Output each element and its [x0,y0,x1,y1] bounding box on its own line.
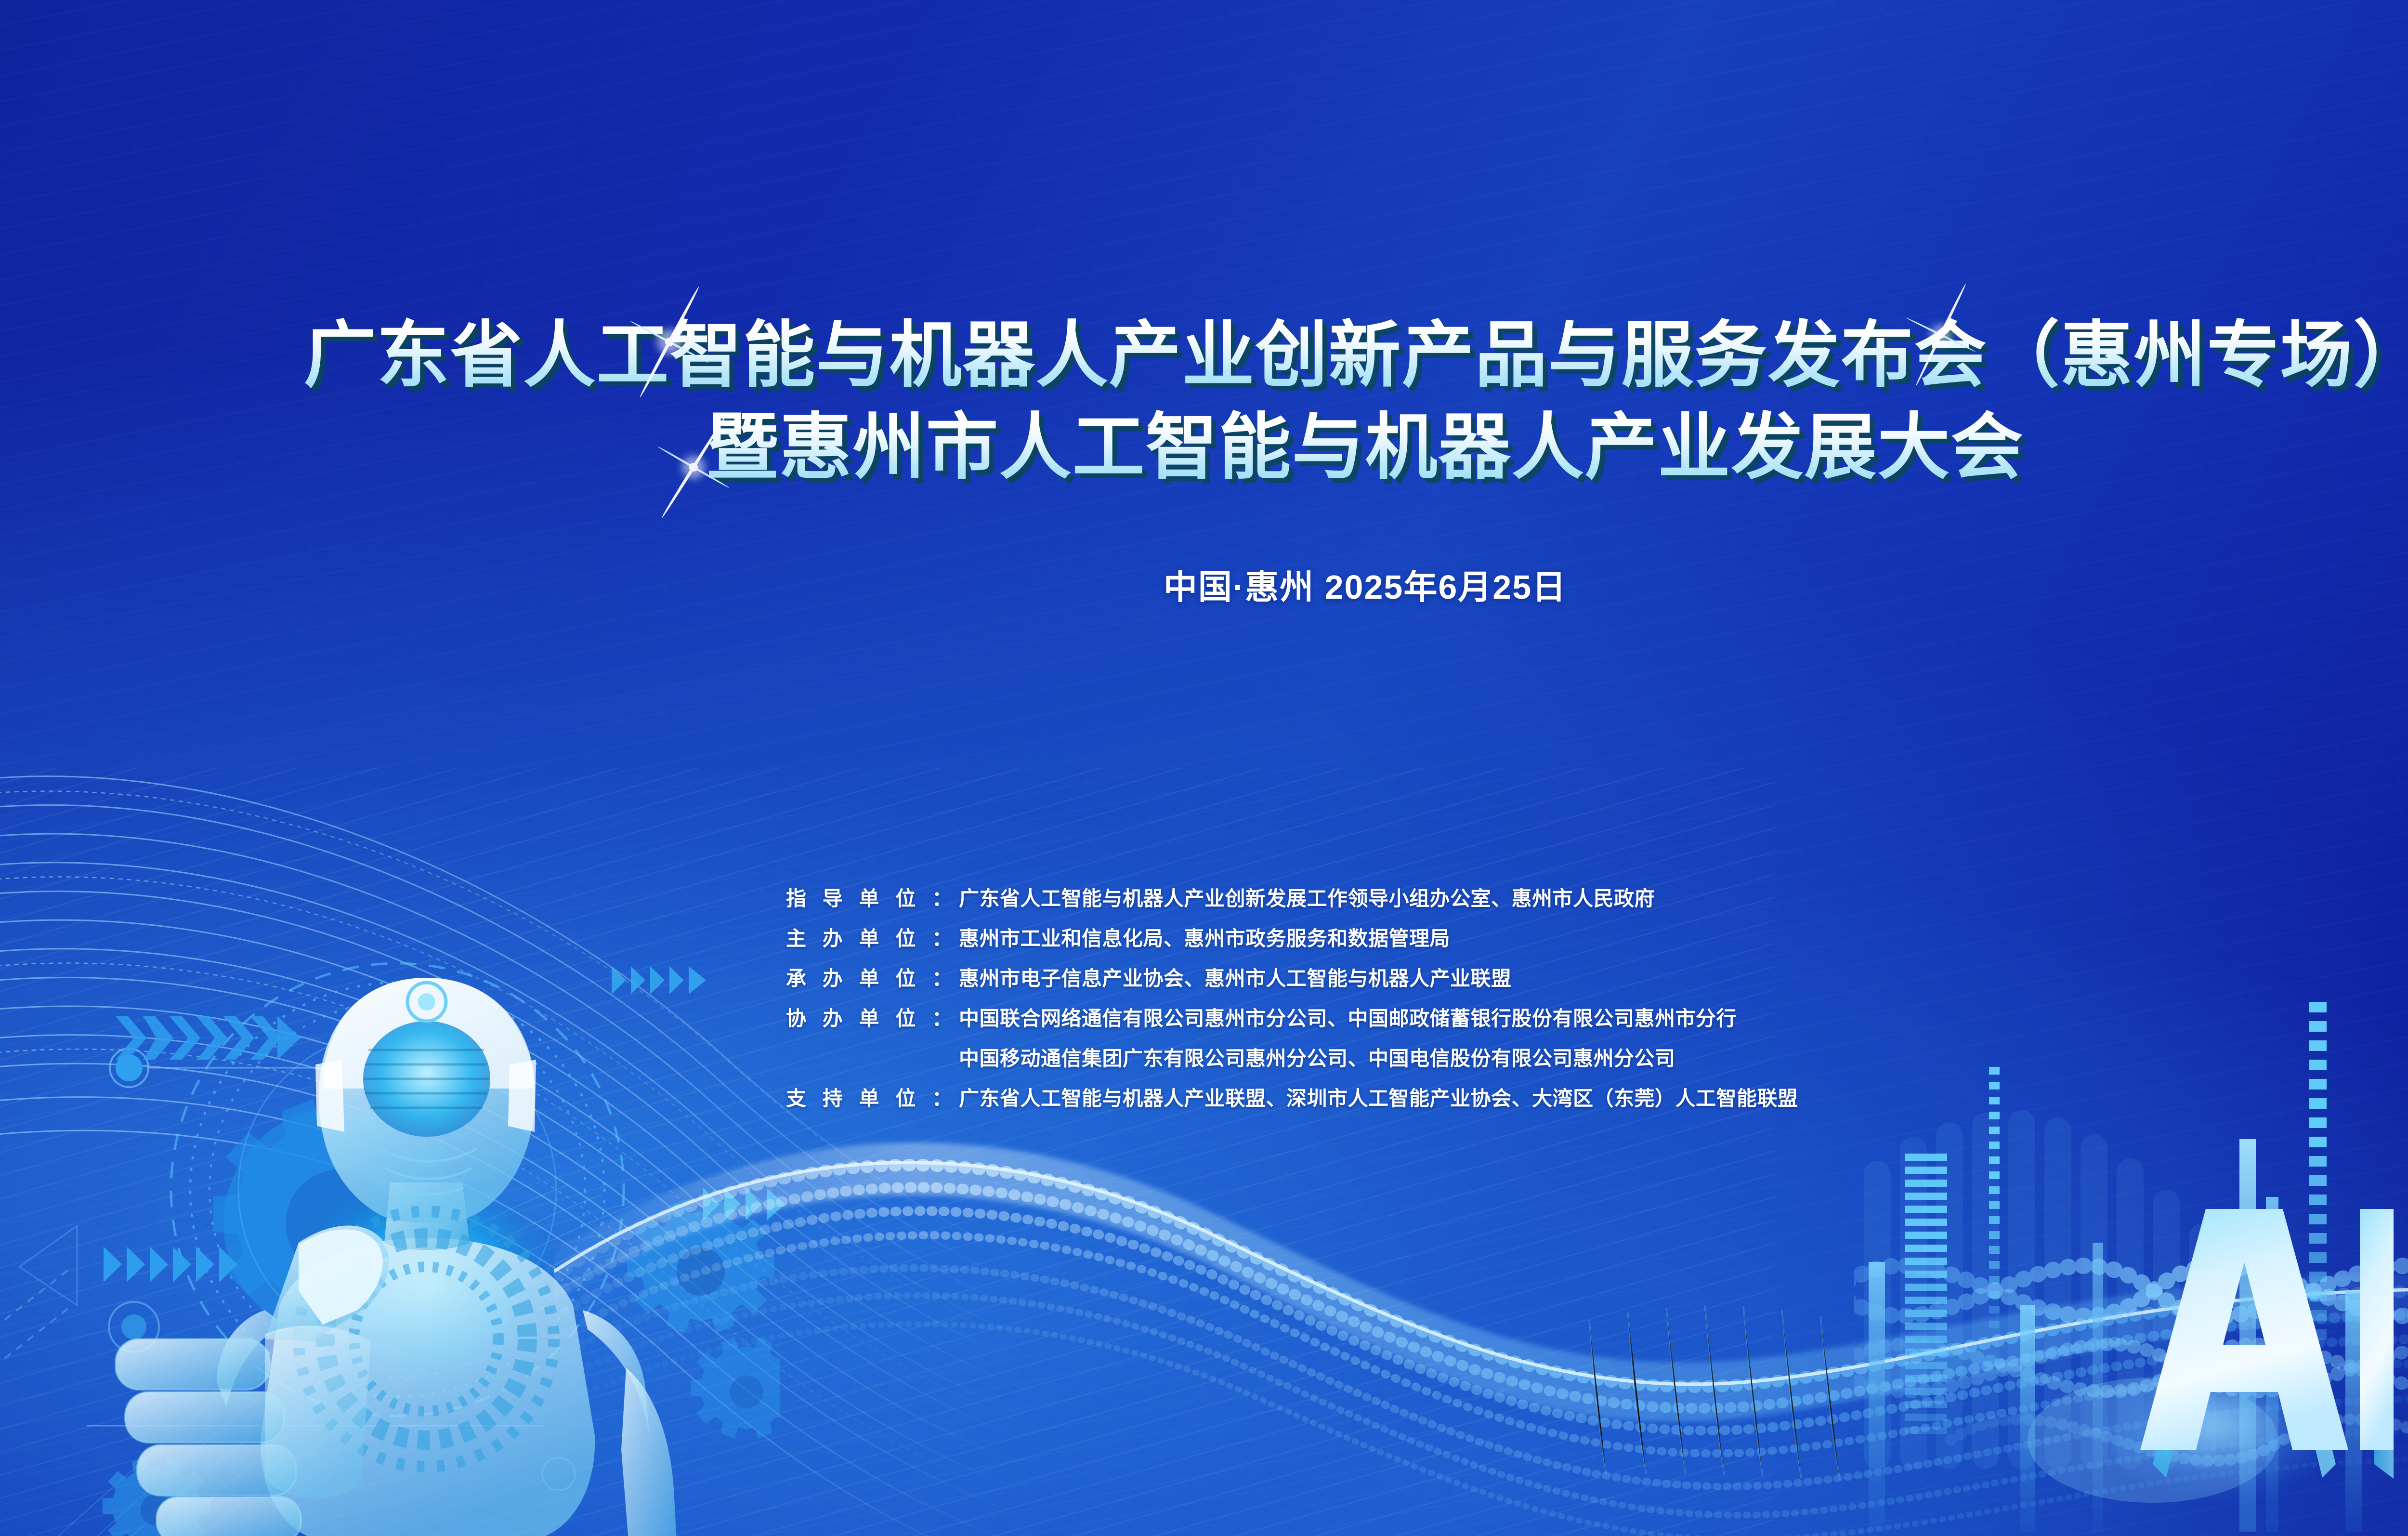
organizer-label: 协办单位： [786,1002,952,1032]
diagonal-streaks-overlay [0,0,2408,1536]
organizer-label: 承办单位： [786,962,952,992]
organizer-value: 惠州市工业和信息化局、惠州市政务服务和数据管理局 [952,922,1450,952]
organizer-label: 主办单位： [786,922,952,952]
humanoid-robot-figure [72,906,771,1536]
organizer-row: 承办单位： 惠州市电子信息产业协会、惠州市人工智能与机器人产业联盟 [786,962,2134,992]
subtitle-location-date: 中国·惠州 2025年6月25日 [0,560,2408,609]
organizer-row-continuation: 协办单位： 中国移动通信集团广东有限公司惠州分公司、中国电信股份有限公司惠州分公… [786,1042,2134,1072]
organizer-label: 指导单位： [786,882,952,912]
organizer-value: 广东省人工智能与机器人产业联盟、深圳市人工智能产业协会、大湾区（东莞）人工智能联… [952,1082,1798,1112]
title-line-1: 广东省人工智能与机器人产业创新产品与服务发布会（惠州专场） [0,308,2408,402]
chevron-arrow-icons-right [612,963,727,997]
organizer-value: 中国移动通信集团广东有限公司惠州分公司、中国电信股份有限公司惠州分公司 [952,1042,1675,1072]
flowing-curve-lines [0,722,1637,1536]
organizer-row: 主办单位： 惠州市工业和信息化局、惠州市政务服务和数据管理局 [786,922,2134,952]
ai-logo-glow [2090,1353,2341,1498]
organizer-value: 惠州市电子信息产业协会、惠州市人工智能与机器人产业联盟 [952,962,1512,992]
organizer-value: 广东省人工智能与机器人产业创新发展工作领导小组办公室、惠州市人民政府 [952,882,1655,912]
headline-block: 广东省人工智能与机器人产业创新产品与服务发布会（惠州专场） 暨惠州市人工智能与机… [0,308,2408,494]
organizer-row: 协办单位： 中国联合网络通信有限公司惠州市分公司、中国邮政储蓄银行股份有限公司惠… [786,1002,2134,1032]
sound-wave-ribbon [554,1050,2408,1536]
chevron-arrow-icons-small [104,1243,253,1286]
chevron-arrow-icons [116,1011,327,1064]
poster-canvas: AI 广东省人工智能与机器人产业创新产品与服务发布会（惠州专场） 暨惠州市人工智… [0,0,2408,1536]
ai-logo: AI [2133,1195,2403,1493]
organizer-row: 指导单位： 广东省人工智能与机器人产业创新发展工作领导小组办公室、惠州市人民政府 [786,882,2134,912]
hud-ring-icons [58,906,780,1536]
title-line-2: 暨惠州市人工智能与机器人产业发展大会 [0,400,2408,494]
chevron-arrow-icons-mid [703,1185,824,1223]
organizer-label: 支持单位： [786,1082,952,1112]
organizer-row: 支持单位： 广东省人工智能与机器人产业联盟、深圳市人工智能产业协会、大湾区（东莞… [786,1082,2134,1112]
organizer-value: 中国联合网络通信有限公司惠州市分公司、中国邮政储蓄银行股份有限公司惠州市分行 [952,1002,1737,1032]
organizers-block: 指导单位： 广东省人工智能与机器人产业创新发展工作领导小组办公室、惠州市人民政府… [786,882,2134,1122]
